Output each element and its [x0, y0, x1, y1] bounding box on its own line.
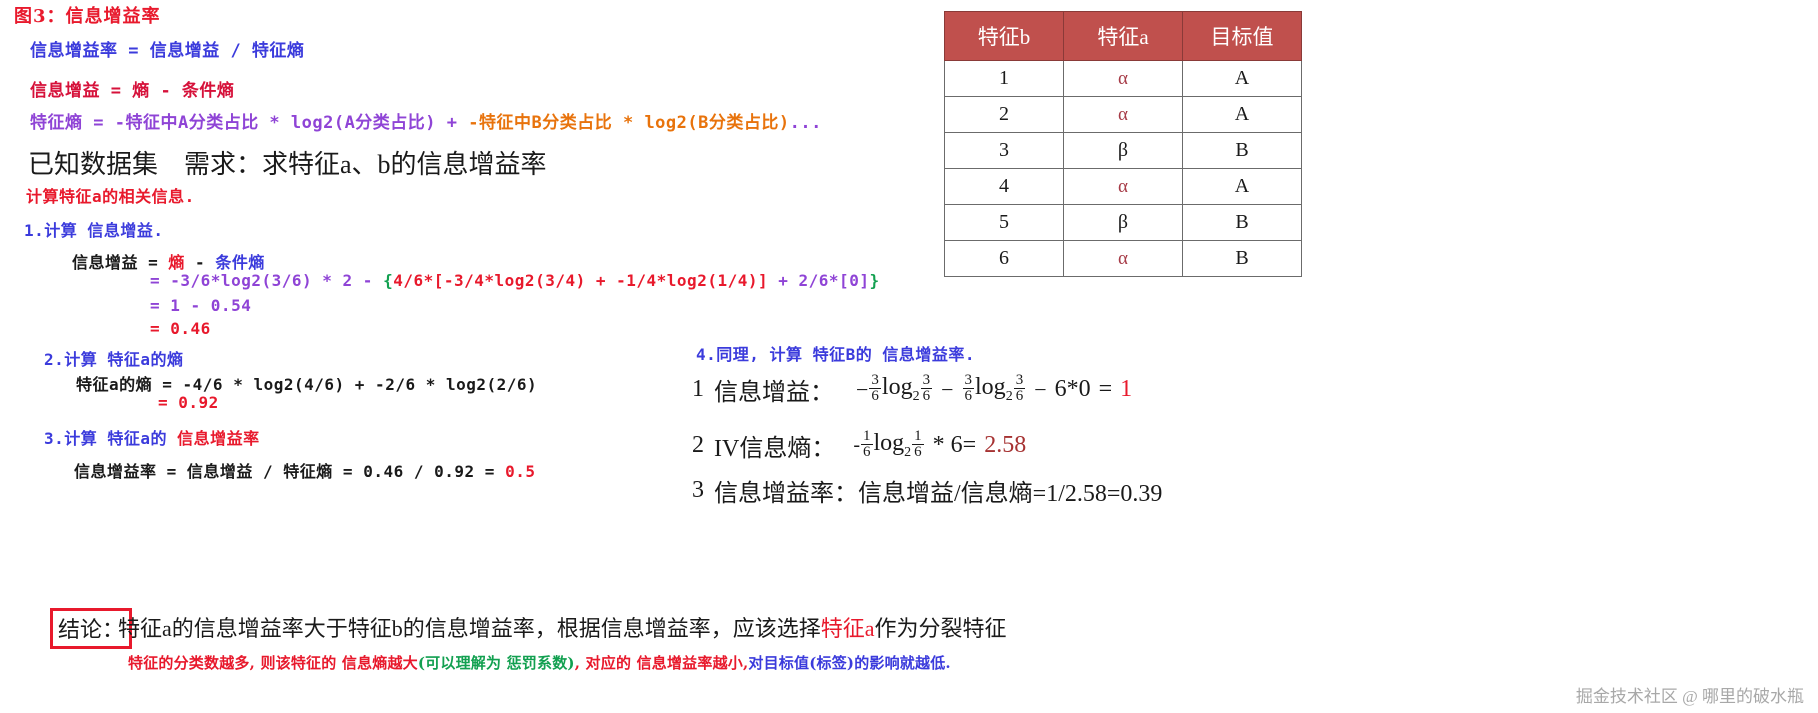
table-row: 5 β B: [945, 205, 1302, 241]
step-4-item-1: 1 信息增益： − 3 6 log2 3 6 − 3 6 log2 3 6 − …: [692, 372, 1132, 407]
step4-item2-frac-2: 1 6: [912, 429, 924, 461]
step-4-item-2: 2 IV信息熵： - 1 6 log2 1 6 * 6= 2.58: [692, 428, 1026, 463]
cell-target: B: [1183, 133, 1302, 169]
frac-numerator: 3: [869, 373, 881, 389]
watermark: 掘金技术社区 @ 哪里的破水瓶: [1576, 682, 1804, 707]
cell-feature-a: β: [1064, 205, 1183, 241]
step-4-item-3: 3 信息增益率：信息增益/信息熵=1/2.58=0.39: [692, 473, 1162, 508]
cell-feature-b: 6: [945, 241, 1064, 277]
step1-l2-bracket: 4/6*[-3/4*log2(3/4) + -1/4*log2(1/4)]: [393, 271, 768, 290]
table-row: 2 α A: [945, 97, 1302, 133]
step4-item2-label: IV信息熵：: [714, 428, 835, 463]
frac-denominator: 6: [912, 445, 924, 460]
conclusion-note-green: (可以理解为 惩罚系数): [418, 654, 575, 672]
step4-item1-tail: 6*0: [1055, 376, 1091, 403]
step4-item2-frac-1: 1 6: [861, 429, 873, 461]
step-1-heading: 1.计算 信息增益.: [24, 217, 164, 241]
frac-denominator: 6: [1014, 389, 1026, 404]
step1-l1-minus: -: [185, 253, 215, 272]
frac-denominator: 6: [963, 389, 975, 404]
table-header-feature-b: 特征b: [945, 12, 1064, 61]
definition-gain-ratio: 信息增益率 = 信息增益 / 特征熵: [30, 36, 304, 61]
feature-entropy-lead: 特征熵 =: [30, 113, 115, 133]
step4-item1-index: 1: [692, 376, 704, 403]
cell-feature-b: 3: [945, 133, 1064, 169]
step1-l1-entropy: 熵: [168, 253, 185, 272]
conclusion-note-part-2: , 对应的 信息增益率越小,: [575, 654, 749, 672]
conclusion-text: 特征a的信息增益率大于特征b的信息增益率，根据信息增益率，应该选择特征a作为分裂…: [118, 611, 1007, 643]
frac-denominator: 6: [869, 389, 881, 404]
step-1-equation-line-1: 信息增益 = 熵 - 条件熵: [72, 249, 265, 273]
known-dataset-line: 已知数据集 需求：求特征a、b的信息增益率: [28, 144, 547, 181]
cell-feature-b: 5: [945, 205, 1064, 241]
table-row: 3 β B: [945, 133, 1302, 169]
step3-head-prefix: 3.计算 特征a的: [44, 429, 177, 448]
table-header-target: 目标值: [1183, 12, 1302, 61]
dataset-table: 特征b 特征a 目标值 1 α A 2 α A 3 β B 4: [944, 11, 1302, 277]
step-1-equation-line-4: = 0.46: [150, 319, 211, 338]
step4-item2-mult: * 6=: [933, 432, 977, 459]
step1-l2-brace-open: {: [383, 271, 393, 290]
step3-eq-result: 0.5: [505, 462, 535, 481]
log-base-2-token-2: log2: [975, 374, 1013, 405]
cell-target: B: [1183, 241, 1302, 277]
feature-entropy-plus: +: [436, 113, 468, 133]
step-2-equation-line-2: = 0.92: [158, 393, 219, 412]
step-3-equation: 信息增益率 = 信息增益 / 特征熵 = 0.46 / 0.92 = 0.5: [74, 458, 535, 482]
step1-l1-cond-entropy: 条件熵: [215, 253, 265, 272]
slide-canvas: 图3：信息增益率 信息增益率 = 信息增益 / 特征熵 信息增益 = 熵 - 条…: [0, 0, 1818, 713]
table-header-feature-a: 特征a: [1064, 12, 1183, 61]
table-header-row: 特征b 特征a 目标值: [945, 12, 1302, 61]
cell-feature-b: 1: [945, 61, 1064, 97]
step-1-equation-line-2: = -3/6*log2(3/6) * 2 - {4/6*[-3/4*log2(3…: [150, 271, 880, 290]
step-3-heading: 3.计算 特征a的 信息增益率: [44, 425, 260, 449]
frac-numerator: 1: [912, 429, 924, 445]
definition-info-gain: 信息增益 = 熵 - 条件熵: [30, 76, 234, 101]
feature-entropy-part2: -特征中B分类占比 * log2(B分类占比): [468, 113, 789, 133]
cell-feature-a: α: [1064, 61, 1183, 97]
feature-entropy-formula: 特征熵 = -特征中A分类占比 * log2(A分类占比) + -特征中B分类占…: [30, 108, 822, 133]
cell-target: A: [1183, 61, 1302, 97]
step-2-equation-line-1: 特征a的熵 = -4/6 * log2(4/6) + -2/6 * log2(2…: [76, 371, 537, 395]
cell-target: A: [1183, 169, 1302, 205]
step1-l2-brace-close: }: [869, 271, 879, 290]
table-row: 6 α B: [945, 241, 1302, 277]
cell-feature-a: α: [1064, 97, 1183, 133]
step-4-heading: 4.同理, 计算 特征B的 信息增益率.: [696, 341, 975, 365]
step4-item1-frac-2: 3 6: [921, 373, 933, 405]
conclusion-highlight-feature-a: 特征a: [821, 616, 875, 641]
frac-numerator: 3: [921, 373, 933, 389]
frac-numerator: 3: [963, 373, 975, 389]
figure-title: 图3：信息增益率: [14, 2, 161, 28]
cell-feature-a: α: [1064, 169, 1183, 205]
log-base-2-token-3: log2: [874, 430, 912, 461]
conclusion-text-part-b: 作为分裂特征: [875, 616, 1007, 641]
frac-denominator: 6: [861, 445, 873, 460]
conclusion-text-part-a: 特征a的信息增益率大于特征b的信息增益率，根据信息增益率，应该选择: [118, 616, 821, 641]
conclusion-note: 特征的分类数越多, 则该特征的 信息熵越大(可以理解为 惩罚系数), 对应的 信…: [128, 652, 951, 673]
frac-numerator: 3: [1014, 373, 1026, 389]
table-row: 1 α A: [945, 61, 1302, 97]
step1-l2-part-a: = -3/6*log2(3/6) * 2 -: [150, 271, 383, 290]
calc-feature-a-header: 计算特征a的相关信息.: [26, 183, 195, 207]
cell-feature-b: 2: [945, 97, 1064, 133]
step3-head-gain-ratio: 信息增益率: [177, 429, 260, 448]
table-row: 4 α A: [945, 169, 1302, 205]
frac-numerator: 1: [861, 429, 873, 445]
frac-denominator: 6: [921, 389, 933, 404]
step4-item1-frac-4: 3 6: [1014, 373, 1026, 405]
step4-item1-frac-1: 3 6: [869, 373, 881, 405]
cell-feature-a: β: [1064, 133, 1183, 169]
feature-entropy-part1: -特征中A分类占比 * log2(A分类占比): [115, 113, 436, 133]
log-base-2-token-1: log2: [882, 374, 920, 405]
step1-l2-part-b: + 2/6*[0]: [768, 271, 869, 290]
cell-feature-a: α: [1064, 241, 1183, 277]
step-2-heading: 2.计算 特征a的熵: [44, 346, 184, 370]
conclusion-note-part-1: 特征的分类数越多, 则该特征的 信息熵越大: [128, 654, 418, 672]
step-1-equation-line-3: = 1 - 0.54: [150, 296, 251, 315]
step4-item2-result: 2.58: [984, 432, 1026, 459]
feature-entropy-tail: ...: [790, 113, 822, 133]
conclusion-note-blue: 对目标值(标签)的影响就越低.: [748, 654, 950, 672]
step3-eq-lhs: 信息增益率 = 信息增益 / 特征熵 = 0.46 / 0.92 =: [74, 462, 505, 481]
step4-item1-frac-3: 3 6: [963, 373, 975, 405]
step4-item1-result: 1: [1120, 376, 1132, 403]
cell-target: A: [1183, 97, 1302, 133]
step4-item3-index: 3: [692, 477, 704, 504]
cell-feature-b: 4: [945, 169, 1064, 205]
step4-item1-label: 信息增益：: [714, 372, 834, 407]
step4-item3-text: 信息增益率：信息增益/信息熵=1/2.58=0.39: [714, 473, 1162, 508]
step1-l1-lhs: 信息增益 =: [72, 253, 168, 272]
cell-target: B: [1183, 205, 1302, 241]
step4-item2-index: 2: [692, 432, 704, 459]
